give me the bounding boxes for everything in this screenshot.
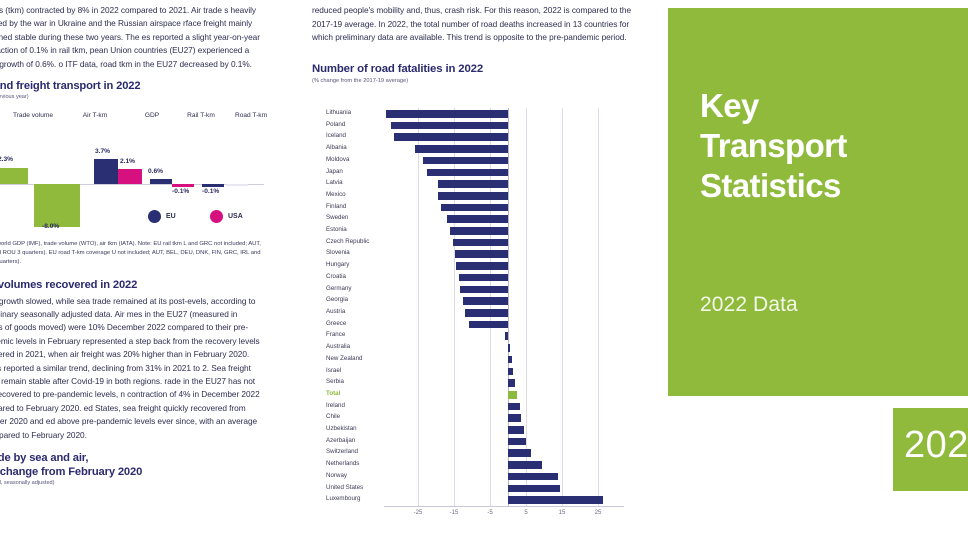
- fatalities-category-label: Australia: [326, 343, 396, 351]
- value-label-trade-volume: 2.3%: [0, 156, 13, 163]
- year-badge-text: 202: [904, 424, 968, 467]
- fatalities-bar: [423, 157, 508, 165]
- bar-eu-rail-tkm: [150, 179, 172, 184]
- fatalities-bar-row: Hungary: [400, 260, 616, 272]
- fatalities-bar-row: France: [400, 330, 616, 342]
- fatalities-category-label: Serbia: [326, 378, 396, 386]
- fatalities-bar: [455, 250, 508, 258]
- fatalities-category-label: Switzerland: [326, 448, 396, 456]
- fatalities-bar-row: Lithuania: [400, 108, 616, 120]
- fatalities-bar: [465, 309, 508, 317]
- group-label-road-tkm: Road T-km: [224, 112, 278, 120]
- group-label-air-tkm: Air T-km: [66, 112, 124, 120]
- fatalities-axis-ticks: -25-15-551525: [400, 508, 616, 528]
- fatalities-bar: [447, 215, 508, 223]
- fatalities-category-label: Sweden: [326, 214, 396, 222]
- fatalities-bar-row: Total: [400, 389, 616, 401]
- group-label-rail-tkm: Rail T-km: [174, 112, 228, 120]
- fatalities-bar: [438, 180, 508, 188]
- fatalities-category-label: Israel: [326, 367, 396, 375]
- fatalities-bar-row: Mexico: [400, 190, 616, 202]
- fatalities-bar: [508, 496, 603, 504]
- left-section2-title: ght volumes recovered in 2022: [0, 278, 264, 292]
- fatalities-bar: [441, 204, 508, 212]
- fatalities-bar-row: Croatia: [400, 272, 616, 284]
- fatalities-category-label: Azerbaijan: [326, 437, 396, 445]
- left-chart1-source: except world GDP (IMF), trade volume (WT…: [0, 240, 264, 268]
- fatalities-bar-row: Iceland: [400, 131, 616, 143]
- fatalities-bar-row: Czech Republic: [400, 237, 616, 249]
- fatalities-category-label: Slovenia: [326, 249, 396, 257]
- middle-paragraph: reduced people's mobility and, thus, cra…: [312, 0, 642, 45]
- fatalities-category-label: Netherlands: [326, 460, 396, 468]
- fatalities-bar: [456, 262, 508, 270]
- fatalities-bar: [508, 391, 517, 399]
- fatalities-bar: [386, 110, 508, 118]
- fatalities-tick-label: -15: [442, 510, 466, 516]
- trade-freight-chart: Trade volume Air T-km GDP Rail T-km Road…: [0, 106, 270, 234]
- bar-usa-rail-tkm: [172, 184, 194, 187]
- fatalities-bar: [427, 169, 508, 177]
- fatalities-category-label: Albania: [326, 144, 396, 152]
- fatalities-category-label: Uzbekistan: [326, 425, 396, 433]
- bar-eu-gdp: [94, 159, 118, 184]
- value-label-rail-tkm-eu: 0.6%: [148, 168, 163, 175]
- left-section2-paragraph: trade growth slowed, while sea trade rem…: [0, 295, 264, 442]
- fatalities-bar-row: Netherlands: [400, 459, 616, 471]
- fatalities-bar-row: Uzbekistan: [400, 424, 616, 436]
- fatalities-bar-row: Serbia: [400, 377, 616, 389]
- fatalities-bar: [415, 145, 508, 153]
- fatalities-bar-row: Germany: [400, 284, 616, 296]
- fatalities-bar-row: Poland: [400, 120, 616, 132]
- fatalities-bar: [508, 461, 542, 469]
- fatalities-bar: [469, 321, 508, 329]
- fatalities-plot-area: LithuaniaPolandIcelandAlbaniaMoldovaJapa…: [400, 108, 616, 506]
- fatalities-bar: [438, 192, 508, 200]
- fatalities-category-label: Austria: [326, 308, 396, 316]
- fatalities-tick-label: 15: [550, 510, 574, 516]
- year-badge-panel: 202: [893, 408, 968, 491]
- fatalities-bar-row: Chile: [400, 412, 616, 424]
- legend-label-eu: EU: [166, 213, 176, 220]
- left-column: metres (tkm) contracted by 8% in 2022 co…: [0, 0, 270, 544]
- fatalities-tick-label: 25: [586, 510, 610, 516]
- group-label-trade-volume: Trade volume: [4, 112, 62, 120]
- fatalities-bar: [453, 239, 508, 247]
- fatalities-bar-row: Luxembourg: [400, 494, 616, 506]
- fatalities-category-label: Latvia: [326, 179, 396, 187]
- left-intro-paragraph: metres (tkm) contracted by 8% in 2022 co…: [0, 4, 264, 71]
- legend-dot-usa: [210, 210, 223, 223]
- fatalities-bar-row: Estonia: [400, 225, 616, 237]
- fatalities-bar-row: New Zealand: [400, 354, 616, 366]
- fatalities-bar: [508, 414, 521, 422]
- fatalities-category-label: Czech Republic: [326, 238, 396, 246]
- fatalities-category-label: New Zealand: [326, 355, 396, 363]
- fatalities-category-label: Estonia: [326, 226, 396, 234]
- fatalities-category-label: Finland: [326, 203, 396, 211]
- fatalities-bar: [508, 379, 515, 387]
- fatalities-axis-line: [384, 506, 624, 507]
- road-fatalities-chart: LithuaniaPolandIcelandAlbaniaMoldovaJapa…: [312, 108, 642, 538]
- fatalities-bar-row: Albania: [400, 143, 616, 155]
- middle-column: reduced people's mobility and, thus, cra…: [312, 0, 642, 544]
- fatalities-category-label: Norway: [326, 472, 396, 480]
- fatalities-bar: [508, 438, 526, 446]
- bar-eu-road-tkm: [202, 184, 224, 187]
- fatalities-bar-row: Finland: [400, 202, 616, 214]
- left-chart2-title-line1: l trade by sea and air,: [0, 451, 264, 465]
- fatalities-bar-row: Azerbaijan: [400, 436, 616, 448]
- fatalities-category-label: Luxembourg: [326, 495, 396, 503]
- fatalities-category-label: United States: [326, 484, 396, 492]
- fatalities-category-label: Poland: [326, 121, 396, 129]
- left-chart2-title-line2: age change from February 2020: [0, 465, 264, 479]
- fatalities-tick-label: -5: [478, 510, 502, 516]
- fatalities-bar: [508, 356, 512, 364]
- fatalities-bar-row: Slovenia: [400, 248, 616, 260]
- cover-title-line3: Statistics: [700, 166, 847, 206]
- fatalities-bar-row: Georgia: [400, 295, 616, 307]
- fatalities-bar-row: Ireland: [400, 401, 616, 413]
- fatalities-bar: [508, 368, 513, 376]
- value-label-gdp-usa: 2.1%: [120, 158, 135, 165]
- left-chart2-subtitle: thly trend, seasonally adjusted): [0, 479, 264, 487]
- fatalities-category-label: Germany: [326, 285, 396, 293]
- fatalities-bar: [508, 426, 524, 434]
- fatalities-tick-label: 5: [514, 510, 538, 516]
- fatalities-category-label: Georgia: [326, 296, 396, 304]
- fatalities-bar-row: Austria: [400, 307, 616, 319]
- cover-title: Key Transport Statistics: [700, 86, 847, 206]
- fatalities-bar-row: Japan: [400, 167, 616, 179]
- cover-title-line1: Key: [700, 86, 847, 126]
- fatalities-bar-row: Latvia: [400, 178, 616, 190]
- fatalities-bar-row: Norway: [400, 471, 616, 483]
- cover-title-line2: Transport: [700, 126, 847, 166]
- fatalities-category-label: Greece: [326, 320, 396, 328]
- fatalities-chart-subtitle: (% change from the 2017-19 average): [312, 78, 642, 84]
- fatalities-bar: [450, 227, 508, 235]
- fatalities-category-label: Chile: [326, 413, 396, 421]
- fatalities-bar-row: Switzerland: [400, 447, 616, 459]
- fatalities-bar-row: Australia: [400, 342, 616, 354]
- value-label-air-tkm: -8.0%: [42, 223, 59, 230]
- fatalities-bar: [391, 122, 508, 130]
- fatalities-bar: [394, 133, 508, 141]
- group-label-gdp: GDP: [128, 112, 176, 120]
- legend-label-usa: USA: [228, 213, 243, 220]
- bar-world-trade-volume: [0, 168, 28, 184]
- fatalities-category-label: Ireland: [326, 402, 396, 410]
- fatalities-bar-row: Sweden: [400, 213, 616, 225]
- bar-world-air-tkm: [34, 184, 80, 227]
- fatalities-chart-title: Number of road fatalities in 2022: [312, 63, 642, 75]
- fatalities-bar: [463, 297, 508, 305]
- fatalities-bar-row: Israel: [400, 366, 616, 378]
- fatalities-bar: [459, 274, 508, 282]
- value-label-road-tkm-eu: -0.1%: [202, 188, 219, 195]
- fatalities-bar: [508, 344, 510, 352]
- fatalities-bar: [508, 449, 531, 457]
- fatalities-category-label: Croatia: [326, 273, 396, 281]
- cover-subtitle: 2022 Data: [700, 293, 798, 317]
- fatalities-bar-row: Moldova: [400, 155, 616, 167]
- page-root: metres (tkm) contracted by 8% in 2022 co…: [0, 0, 968, 544]
- fatalities-bar-row: United States: [400, 483, 616, 495]
- value-label-gdp-eu: 3.7%: [95, 148, 110, 155]
- fatalities-category-label: Total: [326, 390, 396, 398]
- fatalities-category-label: France: [326, 331, 396, 339]
- fatalities-category-label: Moldova: [326, 156, 396, 164]
- fatalities-bar-row: Greece: [400, 319, 616, 331]
- fatalities-tick-label: -25: [406, 510, 430, 516]
- fatalities-bar: [508, 403, 520, 411]
- fatalities-bar: [505, 332, 508, 340]
- legend-dot-eu: [148, 210, 161, 223]
- left-chart1-subtitle: m the previous year): [0, 93, 264, 101]
- fatalities-category-label: Iceland: [326, 132, 396, 140]
- left-chart1-title: de and freight transport in 2022: [0, 79, 264, 93]
- value-label-rail-tkm-usa: -0.1%: [172, 188, 189, 195]
- fatalities-bar: [508, 473, 558, 481]
- fatalities-category-label: Mexico: [326, 191, 396, 199]
- cover-panel: Key Transport Statistics 2022 Data: [668, 8, 968, 396]
- fatalities-bar: [460, 286, 508, 294]
- fatalities-bar: [508, 485, 560, 493]
- fatalities-category-label: Japan: [326, 168, 396, 176]
- fatalities-category-label: Hungary: [326, 261, 396, 269]
- bar-usa-road-tkm: [226, 184, 248, 186]
- bar-usa-gdp: [118, 169, 142, 184]
